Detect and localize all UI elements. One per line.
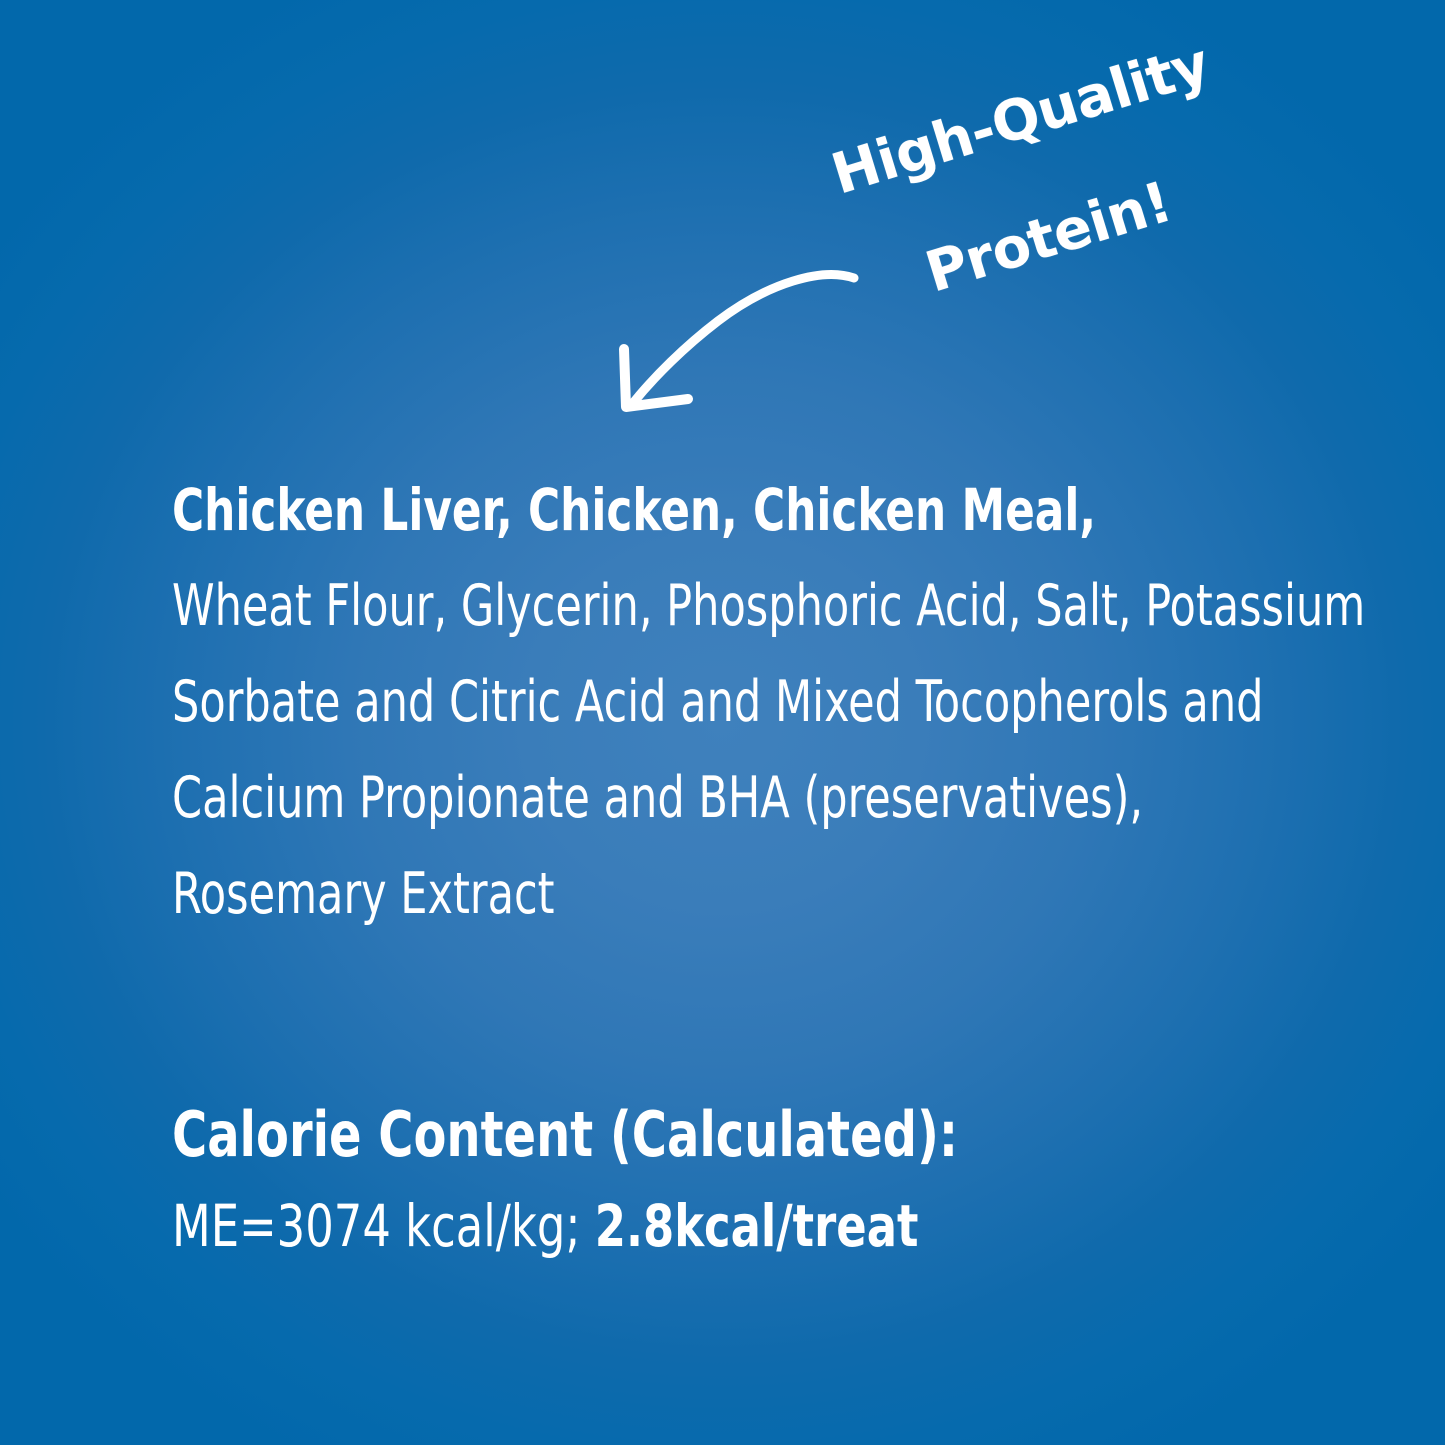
ingredients-line-1: Chicken Liver, Chicken, Chicken Meal,	[172, 462, 1193, 558]
product-ingredients-panel: High-Quality Protein! Chicken Liver, Chi…	[0, 0, 1445, 1445]
ingredients-line-5: Rosemary Extract	[172, 846, 1193, 942]
calorie-content-values: ME=3074 kcal/kg; 2.8kcal/treat	[172, 1183, 1118, 1269]
callout-line-1: High-Quality	[824, 31, 1216, 207]
ingredients-line-2: Wheat Flour, Glycerin, Phosphoric Acid, …	[172, 558, 1193, 654]
ingredients-line-4: Calcium Propionate and BHA (preservative…	[172, 750, 1193, 846]
ingredients-list: Chicken Liver, Chicken, Chicken Meal, Wh…	[172, 462, 1387, 942]
calorie-content-block: Calorie Content (Calculated): ME=3074 kc…	[172, 1093, 1272, 1269]
calorie-content-heading: Calorie Content (Calculated):	[172, 1093, 1118, 1177]
curved-arrow-down-left-icon	[590, 245, 910, 435]
calorie-value-per-kg: ME=3074 kcal/kg;	[172, 1192, 595, 1260]
calorie-value-per-treat: 2.8kcal/treat	[595, 1192, 919, 1260]
callout-line-2: Protein!	[918, 170, 1178, 306]
ingredients-line-3: Sorbate and Citric Acid and Mixed Tocoph…	[172, 654, 1193, 750]
